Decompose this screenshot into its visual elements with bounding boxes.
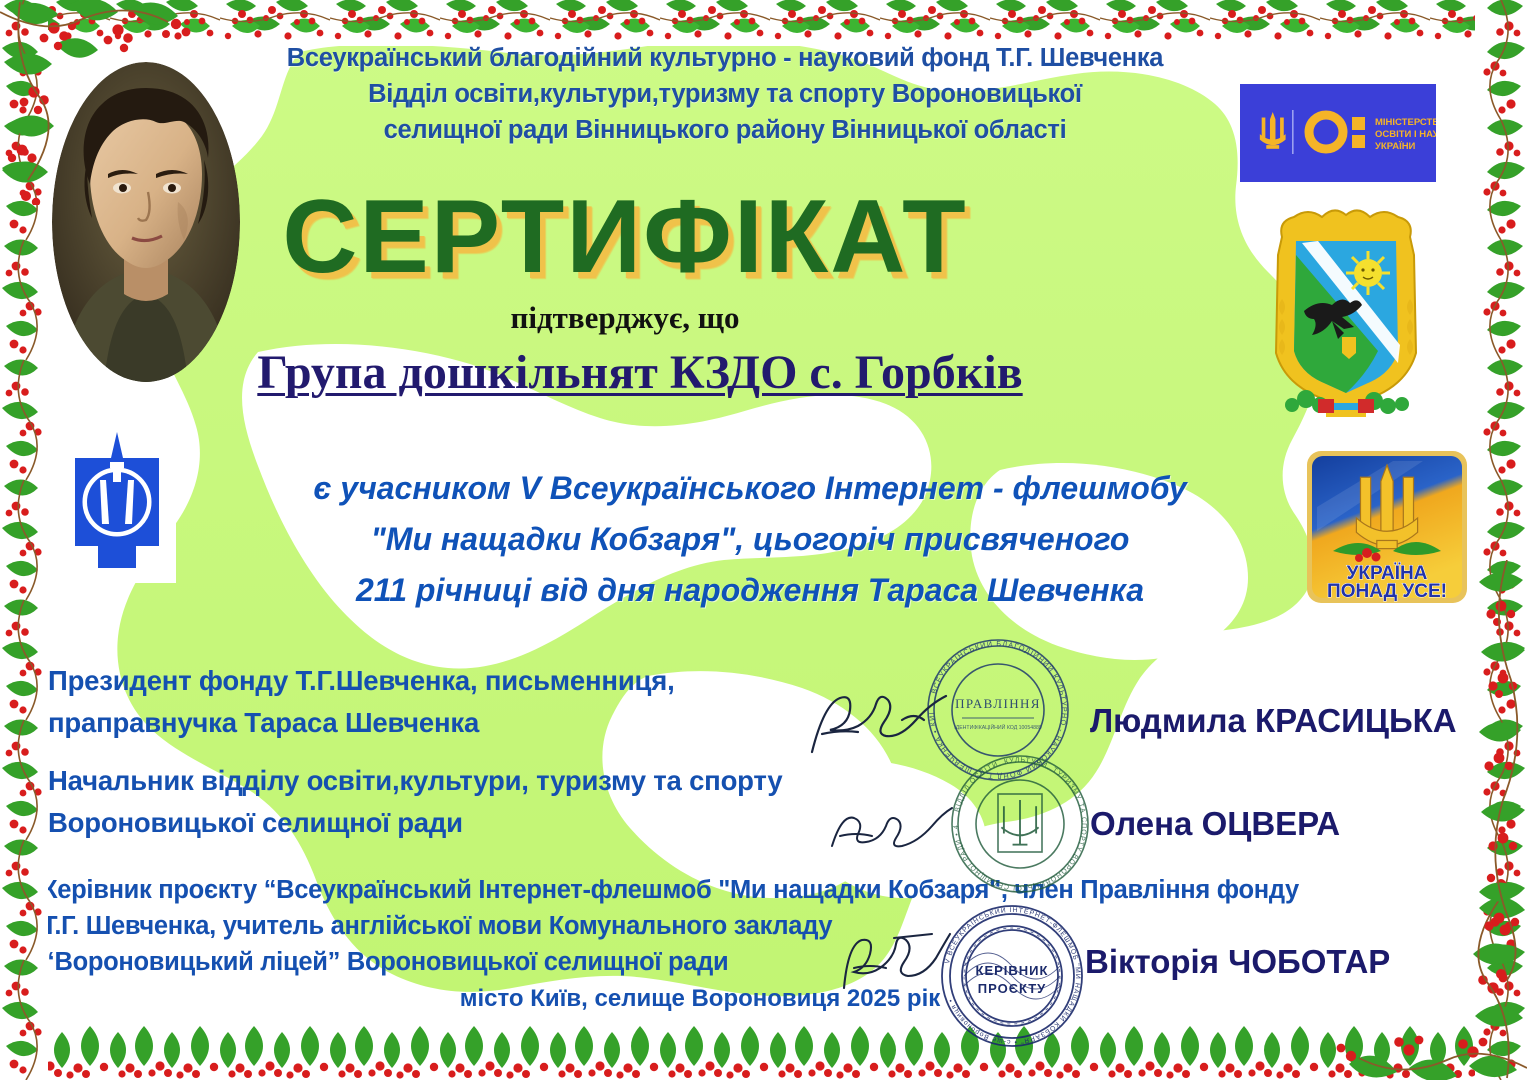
- signatory-2-name: Олена ОЦВЕРА: [1090, 805, 1340, 843]
- ministry-of-education-logo: МІНІСТЕРСТВО ОСВІТИ І НАУКИ УКРАЇНИ: [1240, 84, 1436, 182]
- signatory-2-role-line-1: Начальник відділу освіти,культури, туриз…: [48, 760, 1008, 802]
- signatory-role-president: Президент фонду Т.Г.Шевченка, письменниц…: [48, 660, 948, 744]
- ministry-text-line-1: МІНІСТЕРСТВО: [1375, 117, 1436, 128]
- header-line-2: Відділ освіти,культури,туризму та спорту…: [215, 76, 1235, 112]
- signatory-2-role-line-2: Вороновицької селищної ради: [48, 802, 1008, 844]
- body-line-3: 211 річниці від дня народження Тараса Ше…: [150, 565, 1350, 616]
- ministry-text-line-2: ОСВІТИ І НАУКИ: [1375, 129, 1436, 140]
- body-line-2: "Ми нащадки Кобзаря", цьогоріч присвячен…: [150, 514, 1350, 565]
- ukraine-above-all-badge: УКРАЇНА ПОНАД УСЕ!: [1303, 447, 1471, 607]
- header-line-3: селищної ради Вінницького району Вінниць…: [215, 112, 1235, 148]
- signatory-3-role-line-2: Т.Г. Шевченка, учитель англійської мови …: [42, 908, 1462, 944]
- award-body-text: є учасником V Всеукраїнського Інтернет -…: [150, 463, 1350, 616]
- signatory-1-name: Людмила КРАСИЦЬКА: [1090, 702, 1457, 740]
- vinnytsia-district-coat-of-arms: [1258, 203, 1434, 418]
- body-line-1: є учасником V Всеукраїнського Інтернет -…: [150, 463, 1350, 514]
- signatory-3-name: Вікторія ЧОБОТАР: [1085, 943, 1390, 981]
- signatory-1-role-line-2: праправнучка Тараса Шевченка: [48, 702, 948, 744]
- ministry-text-line-3: УКРАЇНИ: [1375, 141, 1416, 152]
- signatory-role-department-head: Начальник відділу освіти,культури, туриз…: [48, 760, 1008, 844]
- header-line-1: Всеукраїнський благодійний культурно - н…: [215, 40, 1235, 76]
- place-and-year: місто Київ, селище Вороновиця 2025 рік: [0, 985, 1400, 1013]
- organization-header: Всеукраїнський благодійний культурно - н…: [215, 40, 1235, 148]
- ukraine-badge-line-2: ПОНАД УСЕ!: [1327, 581, 1447, 602]
- signatory-1-role-line-1: Президент фонду Т.Г.Шевченка, письменниц…: [48, 660, 948, 702]
- taras-shevchenko-portrait: [52, 62, 240, 382]
- shevchenko-foundation-emblem: [58, 428, 176, 583]
- certificate-canvas: Всеукраїнський благодійний культурно - н…: [0, 0, 1527, 1080]
- signatory-3-role-line-1: Керівник проєкту “Всеукраїнський Інтерне…: [42, 872, 1462, 908]
